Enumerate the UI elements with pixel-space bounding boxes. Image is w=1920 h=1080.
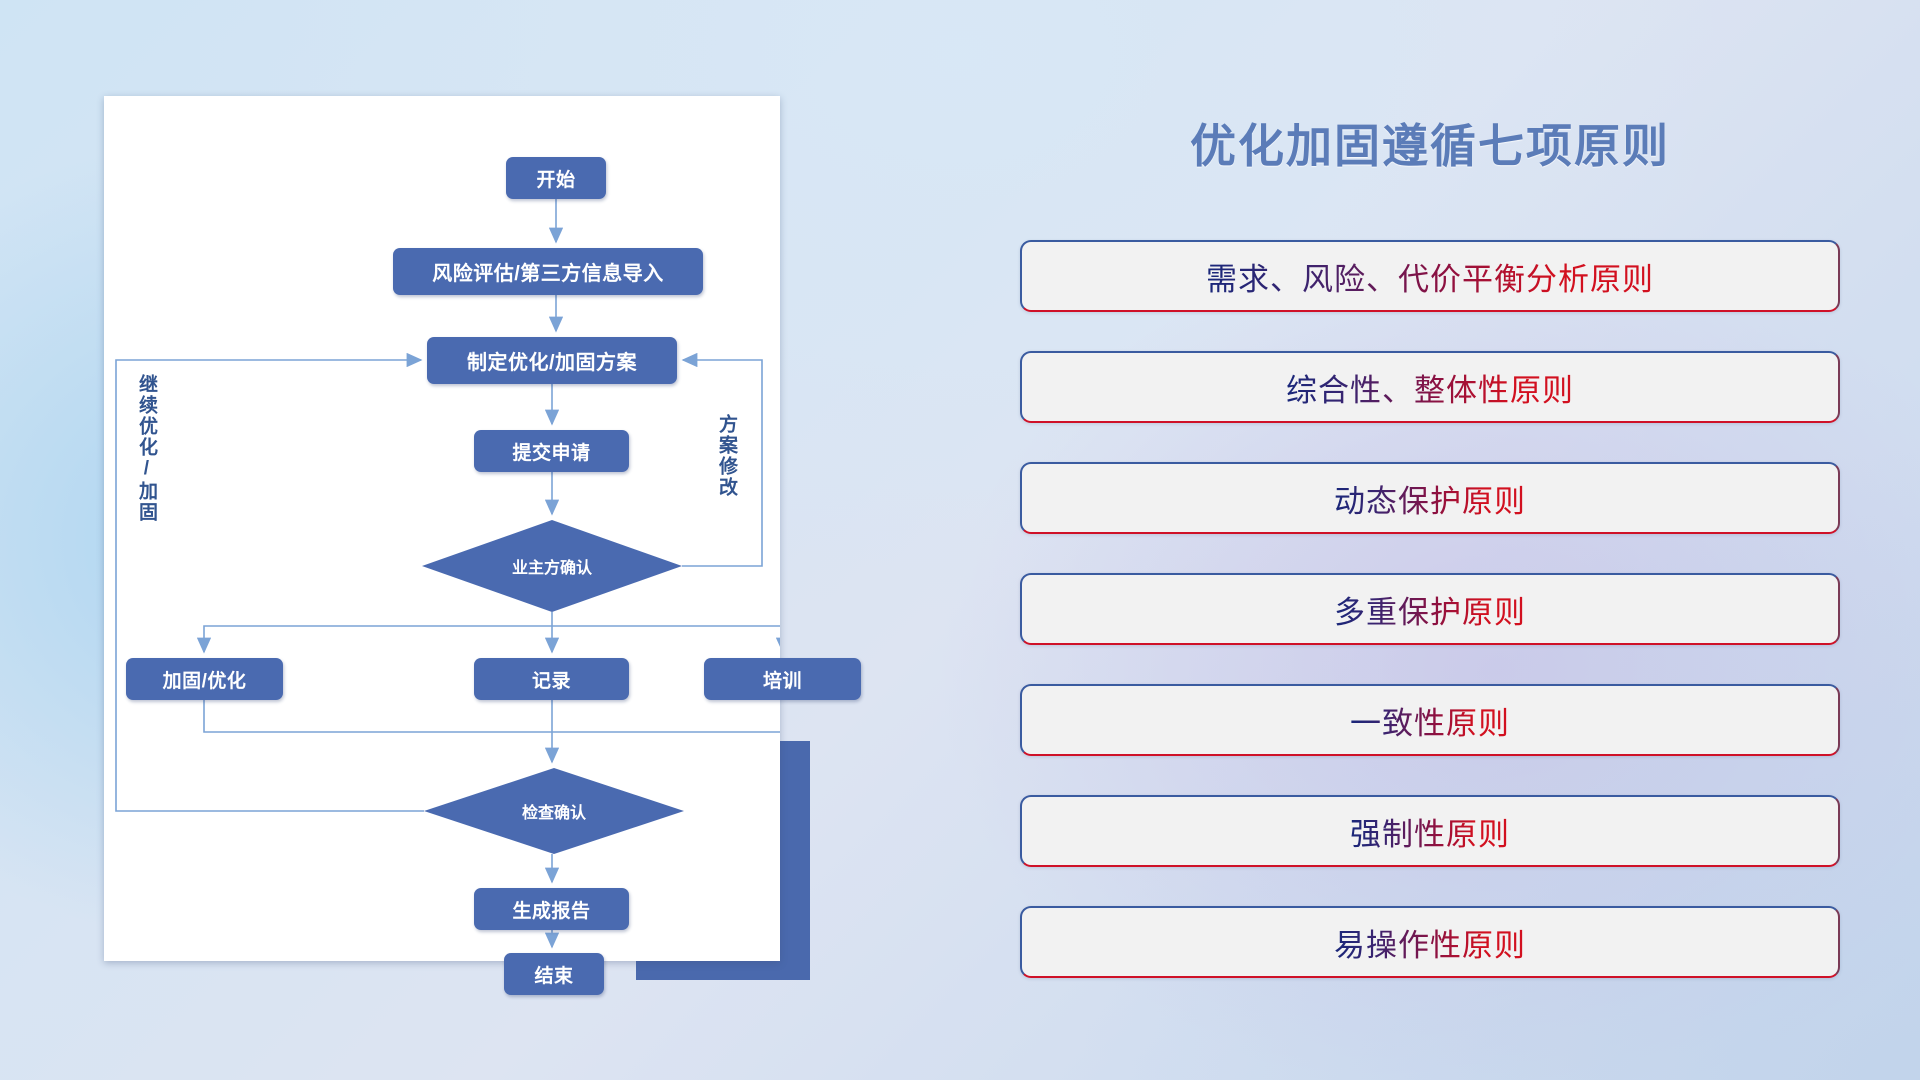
flow-node-label: 生成报告: [512, 896, 590, 923]
flow-node-make-plan[interactable]: 制定优化/加固方案: [427, 337, 677, 384]
flowchart-connectors: [104, 96, 780, 961]
principle-label: 需求、风险、代价平衡分析原则: [1206, 254, 1654, 299]
principle-card[interactable]: 强制性原则: [1020, 795, 1840, 867]
flow-node-end[interactable]: 结束: [504, 953, 604, 995]
flow-node-label: 风险评估/第三方信息导入: [432, 257, 664, 286]
principle-label: 综合性、整体性原则: [1286, 365, 1574, 410]
flow-node-label: 加固/优化: [163, 666, 247, 693]
edge-label-continue-optimize: 继续优化/加固: [136, 374, 156, 523]
flow-node-risk-assessment[interactable]: 风险评估/第三方信息导入: [393, 248, 703, 295]
decision-inspection-confirm: [424, 768, 684, 854]
principle-label: 易操作性原则: [1334, 920, 1526, 965]
principle-card[interactable]: 需求、风险、代价平衡分析原则: [1020, 240, 1840, 312]
edge-label-plan-revision: 方案修改: [716, 414, 736, 498]
principle-label: 多重保护原则: [1334, 587, 1526, 632]
principle-label: 强制性原则: [1350, 809, 1510, 854]
flow-node-label: 结束: [534, 961, 573, 988]
principle-card[interactable]: 多重保护原则: [1020, 573, 1840, 645]
flow-node-start[interactable]: 开始: [506, 157, 606, 199]
flow-node-label: 提交申请: [512, 438, 590, 465]
flow-node-label: 开始: [536, 165, 575, 192]
decision-owner-confirm: [422, 520, 682, 612]
flow-node-record[interactable]: 记录: [474, 658, 629, 700]
principle-card[interactable]: 易操作性原则: [1020, 906, 1840, 978]
flow-node-training[interactable]: 培训: [704, 658, 861, 700]
flowchart-card: 开始 风险评估/第三方信息导入 制定优化/加固方案 提交申请 业主方确认 加固/…: [104, 96, 780, 961]
flow-node-label: 记录: [532, 666, 571, 693]
principles-list: 需求、风险、代价平衡分析原则 综合性、整体性原则 动态保护原则 多重保护原则 一…: [1020, 240, 1840, 1017]
panel-title: 优化加固遵循七项原则: [1020, 110, 1840, 176]
principle-card[interactable]: 综合性、整体性原则: [1020, 351, 1840, 423]
principles-panel: 优化加固遵循七项原则 需求、风险、代价平衡分析原则 综合性、整体性原则 动态保护…: [1020, 100, 1840, 1000]
principle-label: 动态保护原则: [1334, 476, 1526, 521]
flow-node-label: 培训: [763, 666, 802, 693]
flow-node-label: 制定优化/加固方案: [467, 346, 637, 375]
flow-node-submit-application[interactable]: 提交申请: [474, 430, 629, 472]
flow-node-reinforce-optimize[interactable]: 加固/优化: [126, 658, 283, 700]
flow-node-generate-report[interactable]: 生成报告: [474, 888, 629, 930]
principle-label: 一致性原则: [1350, 698, 1510, 743]
principle-card[interactable]: 一致性原则: [1020, 684, 1840, 756]
principle-card[interactable]: 动态保护原则: [1020, 462, 1840, 534]
slide-canvas: 开始 风险评估/第三方信息导入 制定优化/加固方案 提交申请 业主方确认 加固/…: [0, 0, 1920, 1080]
